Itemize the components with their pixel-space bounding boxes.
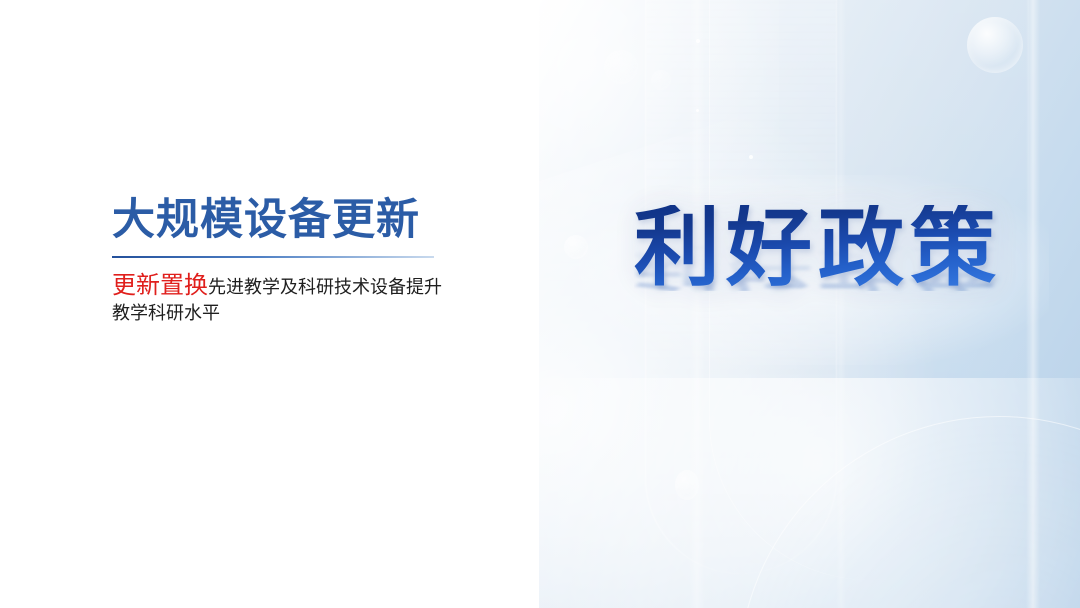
left-panel: 大规模设备更新 更新置换先进教学及科研技术设备提升教学科研水平 <box>0 0 540 608</box>
right-panel: 利好政策 利好政策 <box>539 0 1080 608</box>
subtitle-block: 更新置换先进教学及科研技术设备提升教学科研水平 <box>112 270 442 325</box>
subtitle-accent-text: 更新置换 <box>112 272 208 299</box>
hero-text-wrap: 利好政策 利好政策 <box>539 0 1080 608</box>
left-text-block: 大规模设备更新 更新置换先进教学及科研技术设备提升教学科研水平 <box>112 196 512 326</box>
hero-headline: 利好政策 <box>634 205 1002 291</box>
page-title: 大规模设备更新 <box>112 196 512 244</box>
slide-root: 大规模设备更新 更新置换先进教学及科研技术设备提升教学科研水平 <box>0 0 1080 608</box>
title-divider <box>112 256 434 258</box>
